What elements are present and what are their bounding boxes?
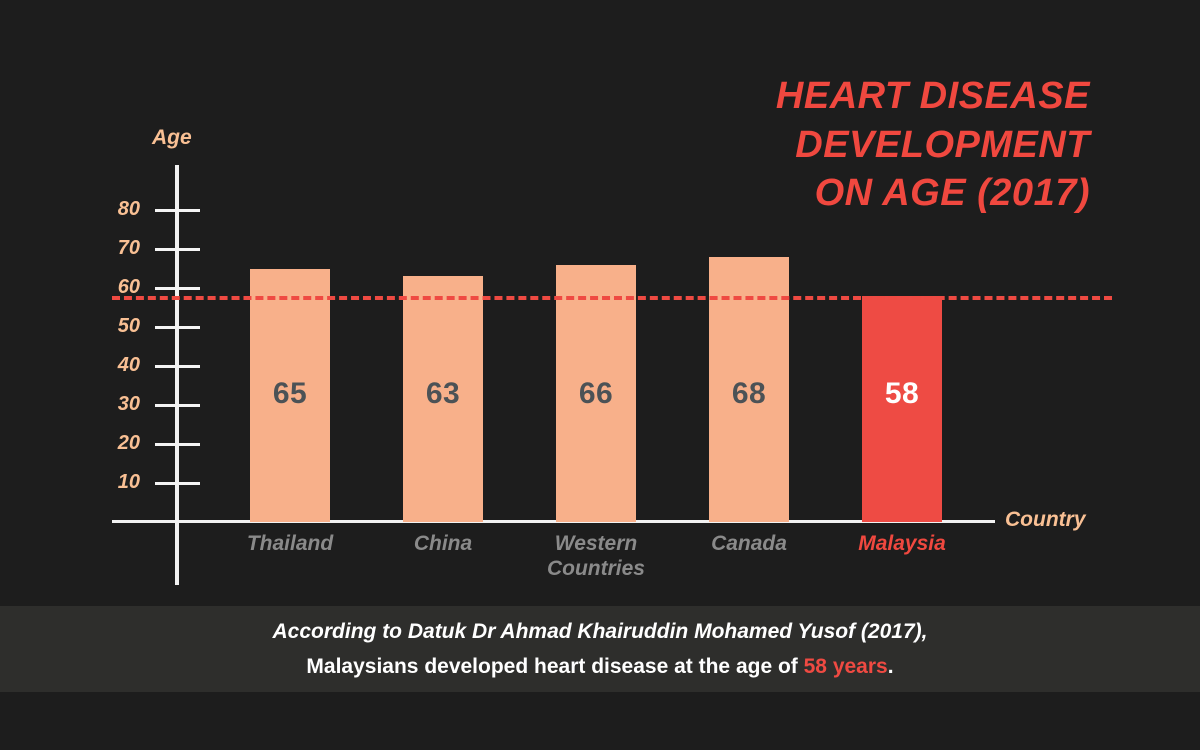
bar-value-label: 66: [556, 377, 636, 411]
category-label-line-1: Malaysia: [817, 532, 987, 557]
caption-text-before: Malaysians developed heart disease at th…: [306, 655, 803, 678]
bar-thailand[interactable]: 65: [250, 269, 330, 523]
caption-line-1: According to Datuk Dr Ahmad Khairuddin M…: [0, 620, 1200, 644]
bar-malaysia[interactable]: 58: [862, 296, 942, 522]
category-label-malaysia: Malaysia: [817, 532, 987, 557]
category-label-line-2: Countries: [511, 557, 681, 582]
bar-value-label: 63: [403, 377, 483, 411]
plot-area: Age Country 1020304050607080 6563666858 …: [0, 0, 1200, 606]
threshold-dashed-line: [112, 296, 1112, 300]
bar-china[interactable]: 63: [403, 276, 483, 522]
category-label-line-1: China: [358, 532, 528, 557]
infographic-chart: HEART DISEASE DEVELOPMENT ON AGE (2017) …: [0, 0, 1200, 750]
category-label-line-1: Thailand: [205, 532, 375, 557]
bar-value-label: 58: [862, 377, 942, 411]
bar-value-label: 68: [709, 377, 789, 411]
caption-accent-value: 58 years: [804, 655, 888, 678]
bar-value-label: 65: [250, 377, 330, 411]
bar-western[interactable]: 66: [556, 265, 636, 522]
category-label-thailand: Thailand: [205, 532, 375, 557]
bar-series: 6563666858: [0, 0, 1200, 522]
category-label-china: China: [358, 532, 528, 557]
caption-line-2: Malaysians developed heart disease at th…: [0, 655, 1200, 679]
category-label-canada: Canada: [664, 532, 834, 557]
footer-band: [0, 606, 1200, 692]
category-label-western: WesternCountries: [511, 532, 681, 582]
category-label-line-1: Western: [511, 532, 681, 557]
category-label-line-1: Canada: [664, 532, 834, 557]
caption-text-after: .: [888, 655, 894, 678]
